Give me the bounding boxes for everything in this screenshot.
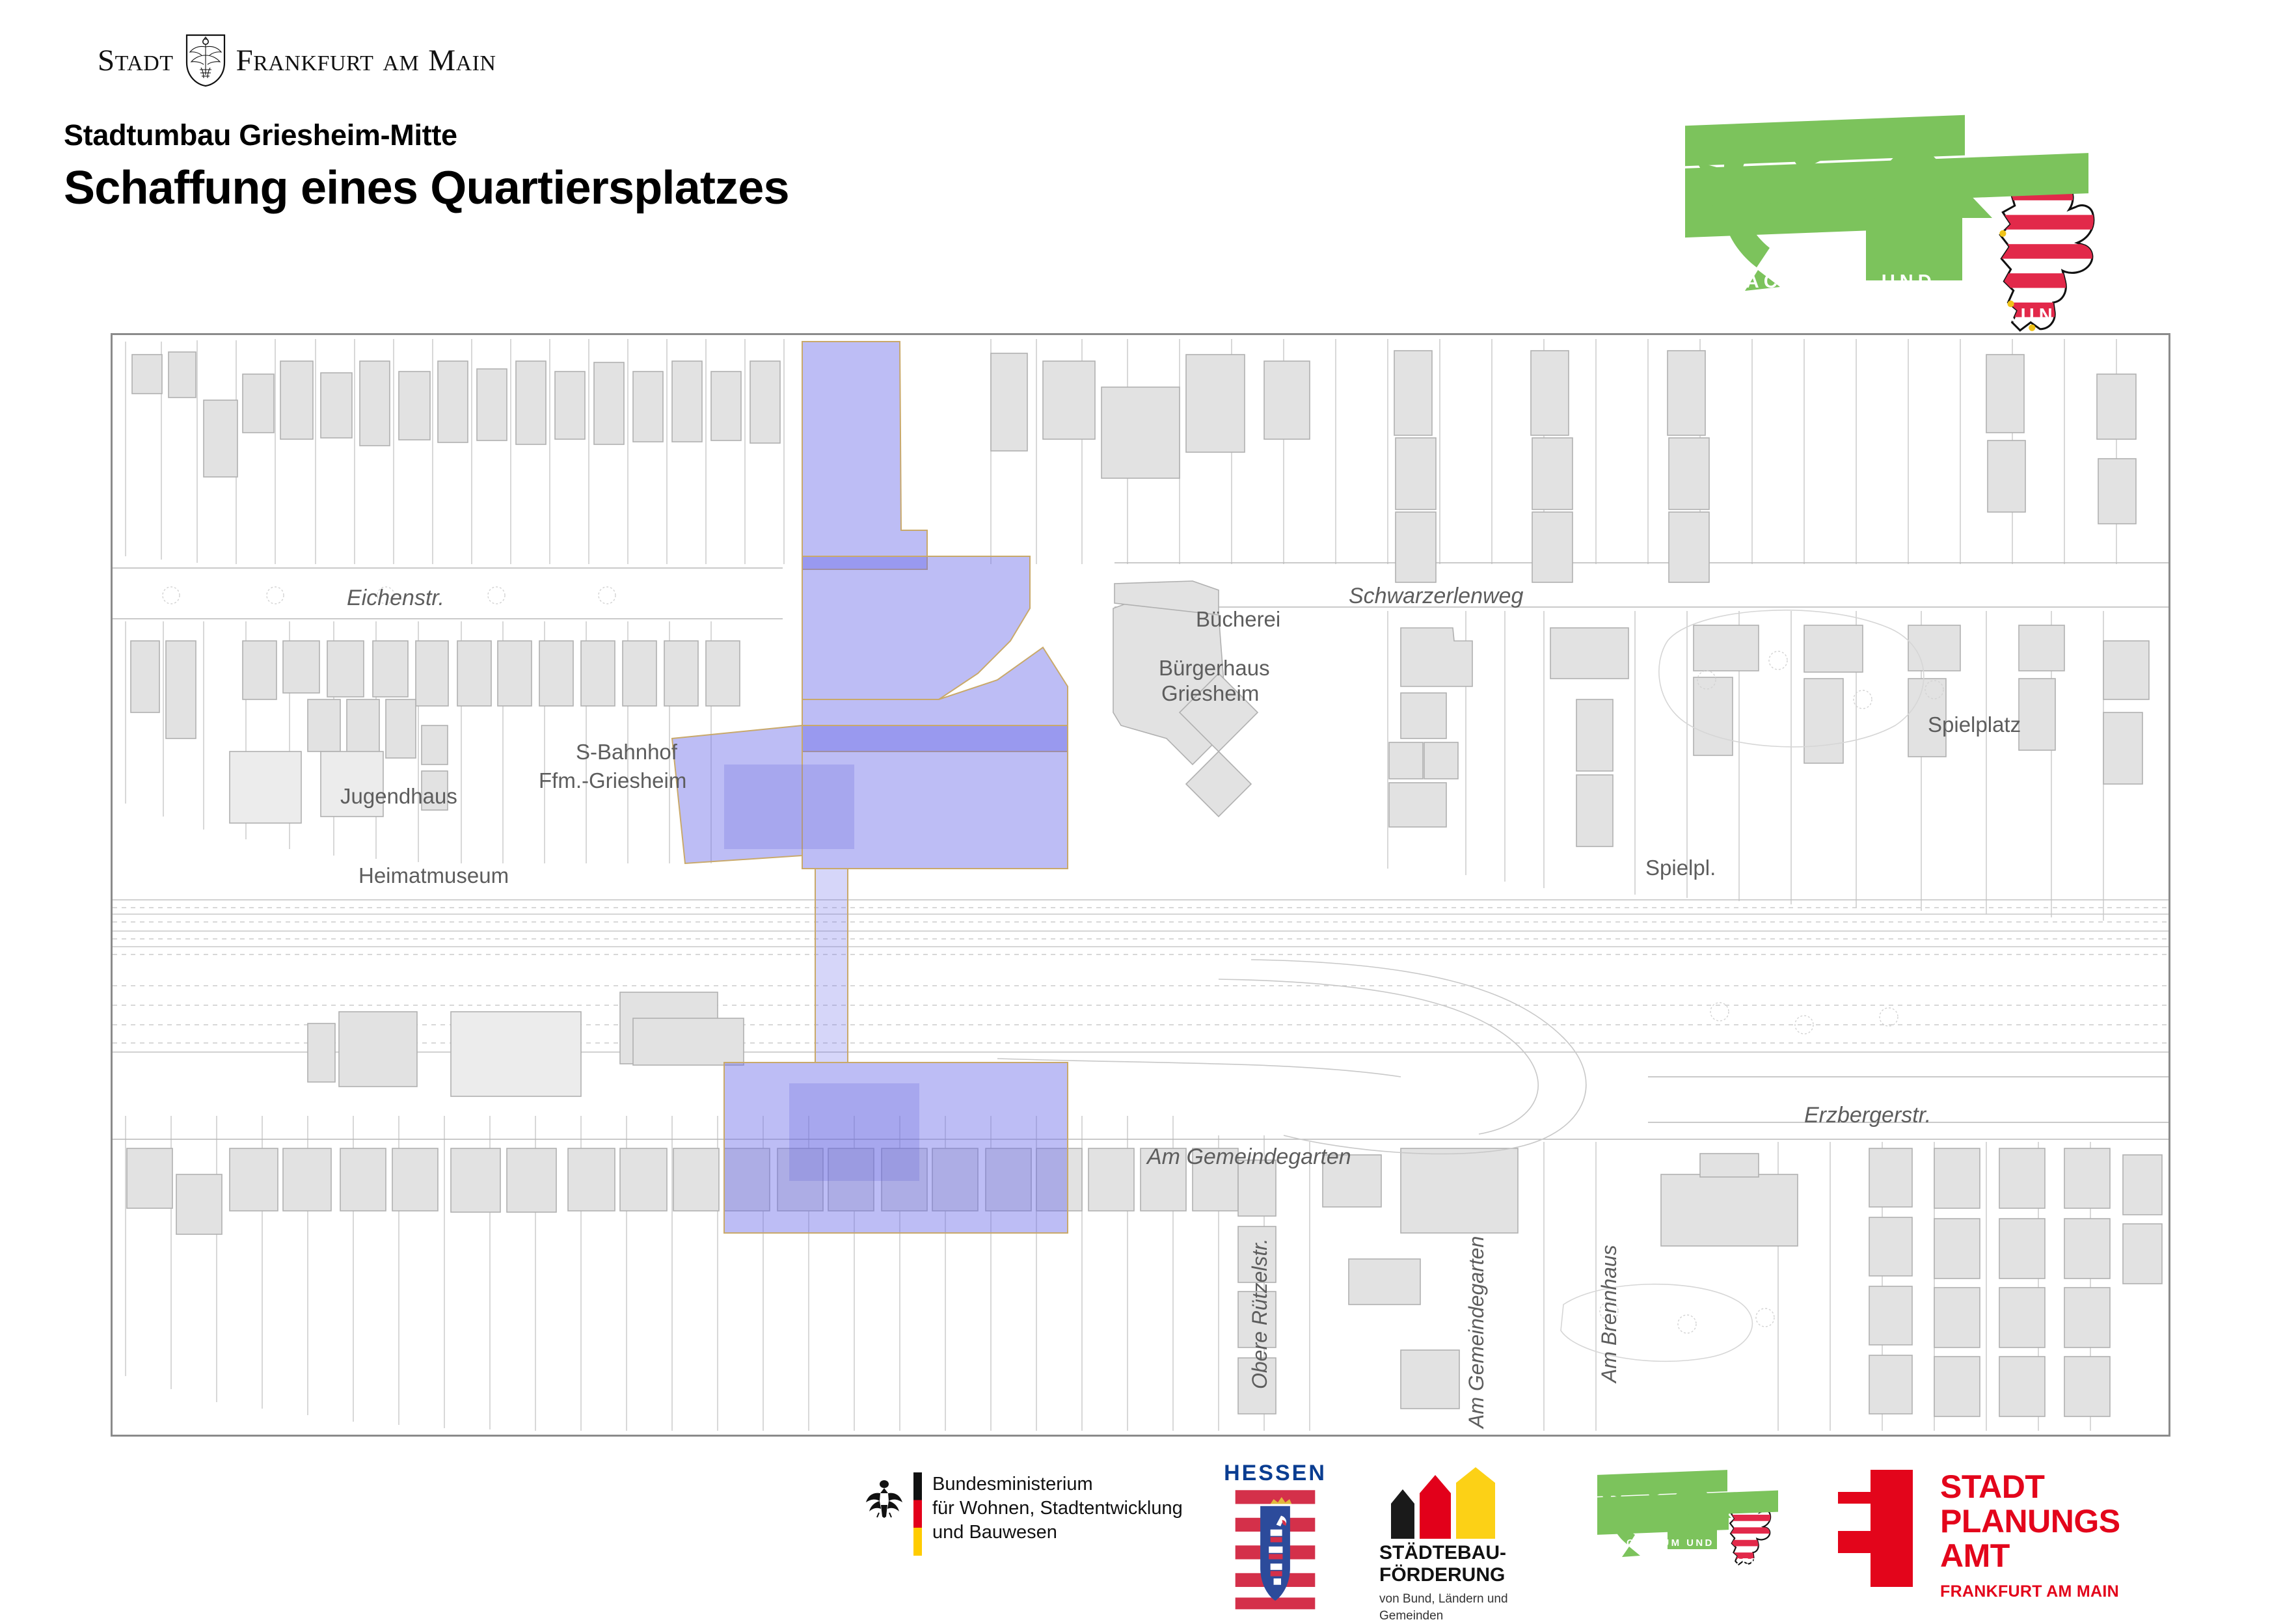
staedtebau-sub2: Gemeinden (1379, 1608, 1548, 1624)
map-canvas[interactable] (113, 335, 2168, 1435)
cadastral-map[interactable]: Eichenstr. Schwarzerlenweg Erzbergerstr.… (111, 333, 2170, 1437)
frankfurt-eagle-crest-icon (185, 34, 226, 87)
bundesadler-icon (865, 1476, 903, 1518)
spa-sub: FRANKFURT AM MAIN (1940, 1582, 2120, 1601)
hessen-logo-line2: NACHHALTIGE ERNEUERUNG (1701, 305, 2076, 327)
staedtebaufoerderung-logo: STÄDTEBAU- FÖRDERUNG von Bund, Ländern u… (1379, 1467, 1548, 1624)
three-houses-icon (1379, 1467, 1509, 1539)
bmwsb-logo: Bundesministerium für Wohnen, Stadtentwi… (865, 1472, 1183, 1556)
project-title: Schaffung eines Quartiersplatzes (64, 161, 789, 215)
wordmark-stadt: STADT (98, 43, 174, 78)
stadtplanungsamt-mark-icon (1838, 1470, 1913, 1587)
hessen-growth-mini-logo: WACHSTUM UND NACHHALTIGE ERNEUERUNG STÄD… (1597, 1472, 1825, 1596)
hessen-logo-line1: WACHSTUM UND (1724, 271, 1936, 293)
bmwsb-line3: und Bauwesen (932, 1521, 1183, 1545)
hessen-state-logo: HESSEN (1213, 1462, 1337, 1614)
wordmark-main-rest: AIN (456, 51, 496, 75)
spa-line3: AMT (1940, 1539, 2120, 1573)
hessen-wordmark: HESSEN (1213, 1462, 1337, 1484)
stadtplanungsamt-wordmark: STADT PLANUNGS AMT FRANKFURT AM MAIN (1940, 1470, 2120, 1601)
mini-logo-line2: NACHHALTIGE ERNEUERUNG (1597, 1556, 1789, 1567)
wordmark-am: AM (383, 51, 419, 75)
funding-logo-strip: Bundesministerium für Wohnen, Stadtentwi… (0, 1461, 2283, 1610)
wordmark-frankfurt-rest: RANKFURT (253, 51, 373, 75)
bmwsb-line1: Bundesministerium (932, 1472, 1183, 1496)
wordmark-stadt-rest: TADT (115, 51, 174, 75)
spa-line2: PLANUNGS (1940, 1504, 2120, 1539)
wordmark-frankfurt-am-main: FRANKFURTAMMAIN (236, 43, 496, 78)
staedtebau-sub1: von Bund, Ländern und (1379, 1591, 1548, 1607)
german-flag-bar-icon (913, 1472, 922, 1556)
city-of-frankfurt-logo: STADT FRANKFURTAMMAIN (98, 34, 496, 87)
hessen-coat-of-arms-icon (1226, 1488, 1324, 1610)
wordmark-m-initial: M (428, 44, 455, 77)
staedtebau-line1: STÄDTEBAU- (1379, 1542, 1548, 1564)
stadtplanungsamt-logo: STADT PLANUNGS AMT FRANKFURT AM MAIN (1838, 1470, 2120, 1601)
wordmark-f-initial: F (236, 44, 254, 77)
spa-line1: STADT (1940, 1470, 2120, 1504)
bmwsb-name: Bundesministerium für Wohnen, Stadtentwi… (932, 1472, 1183, 1545)
mini-logo-line1: WACHSTUM UND (1606, 1537, 1714, 1549)
bmwsb-line2: für Wohnen, Stadtentwicklung (932, 1496, 1183, 1521)
mini-logo-line3: STÄDTEBAUFÖRDERUNG HESSEN (1597, 1573, 1746, 1583)
page-title: Stadtumbau Griesheim-Mitte Schaffung ein… (64, 118, 789, 215)
project-subtitle: Stadtumbau Griesheim-Mitte (64, 118, 789, 152)
wordmark-stadt-initial: S (98, 44, 115, 77)
staedtebau-line2: FÖRDERUNG (1379, 1564, 1548, 1586)
